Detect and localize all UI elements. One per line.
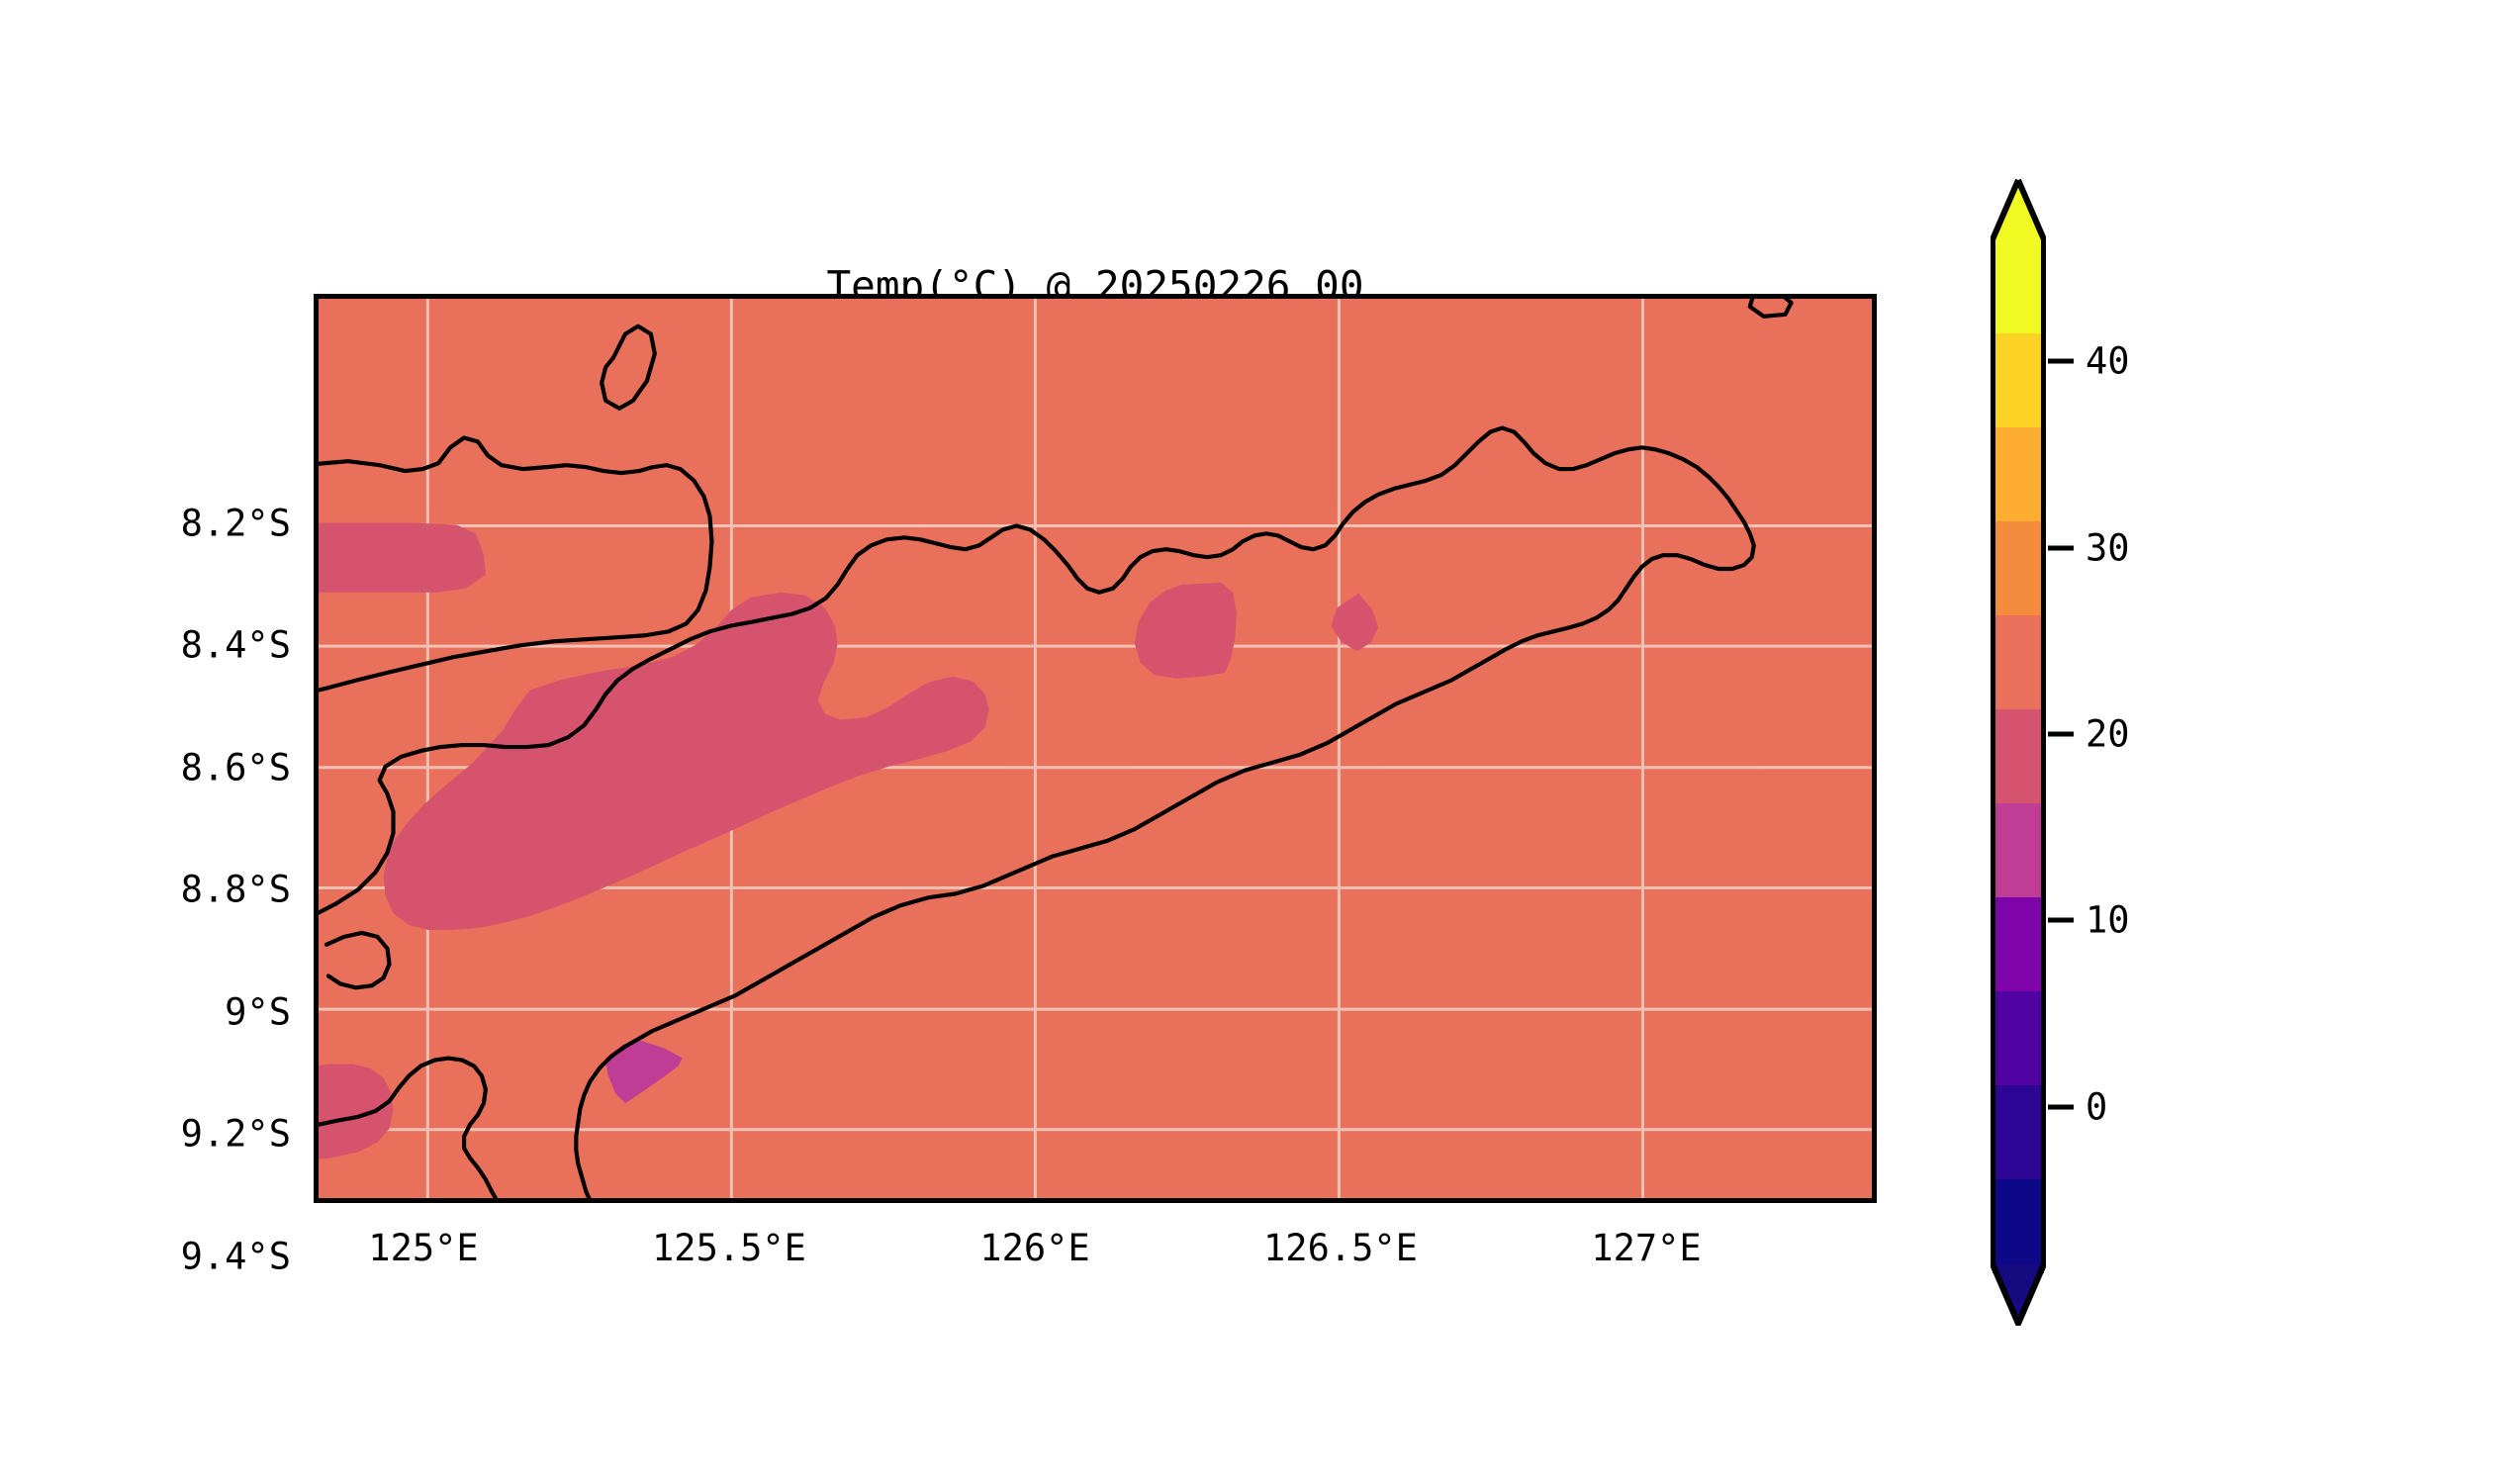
xtick-label-126.5E: 126.5°E — [1263, 1227, 1418, 1269]
ytick-label-8.8S: 8.8°S — [14, 869, 291, 911]
colorbar-tick-label-40: 40 — [2086, 340, 2130, 383]
ytick-label-8.4S: 8.4°S — [14, 624, 291, 667]
ytick-label-9.4S: 9.4°S — [14, 1236, 291, 1278]
xtick-label-125E: 125°E — [368, 1227, 478, 1269]
colorbar-band-5-10 — [1993, 991, 2044, 1085]
ytick-label-8.6S: 8.6°S — [14, 747, 291, 789]
colorbar-tick-label-20: 20 — [2086, 713, 2130, 756]
colorbar-tick-mark-10 — [2048, 918, 2074, 923]
contour-band-20-25-northwest — [319, 523, 486, 593]
ytick-label-8.2S: 8.2°S — [14, 503, 291, 545]
colorbar-band-0-5 — [1993, 1085, 2044, 1179]
colorbar-extend-under-arrow — [1993, 1264, 2044, 1324]
colorbar-extend-over-arrow — [1993, 180, 2044, 239]
colorbar-band-20-25 — [1993, 709, 2044, 803]
temperature-contour-map — [319, 299, 1872, 1198]
colorbar-band-minus5-0 — [1993, 1179, 2044, 1273]
xtick-label-126E: 126°E — [979, 1227, 1089, 1269]
colorbar-tick-label-10: 10 — [2086, 899, 2130, 942]
map-axes[interactable] — [314, 294, 1877, 1203]
colorbar-tick-label-30: 30 — [2086, 527, 2130, 570]
figure-canvas: Temp(°C) @ 20250226_00 Simulation Time: … — [0, 0, 2504, 1484]
colorbar-tick-mark-20 — [2048, 732, 2074, 737]
colorbar-tick-mark-40 — [2048, 359, 2074, 364]
colorbar-band-25-30 — [1993, 615, 2044, 709]
colorbar-band-45-50 — [1993, 239, 2044, 333]
xtick-label-125.5E: 125.5°E — [652, 1227, 806, 1269]
colorbar-tick-mark-30 — [2048, 546, 2074, 551]
colorbar-band-35-40 — [1993, 427, 2044, 521]
ytick-label-9.2S: 9.2°S — [14, 1113, 291, 1156]
colorbar-band-30-35 — [1993, 521, 2044, 615]
colorbar-tick-mark-0 — [2048, 1105, 2074, 1110]
colorbar-band-40-45 — [1993, 333, 2044, 427]
map-plot-area — [319, 299, 1872, 1198]
colorbar[interactable] — [1991, 178, 2046, 1326]
colorbar-band-10-15 — [1993, 897, 2044, 991]
colorbar-tick-label-0: 0 — [2086, 1086, 2107, 1129]
colorbar-band-15-20 — [1993, 803, 2044, 897]
colorbar-gradient — [1991, 178, 2046, 1326]
xtick-label-127E: 127°E — [1591, 1227, 1701, 1269]
ytick-label-9S: 9°S — [14, 991, 291, 1034]
